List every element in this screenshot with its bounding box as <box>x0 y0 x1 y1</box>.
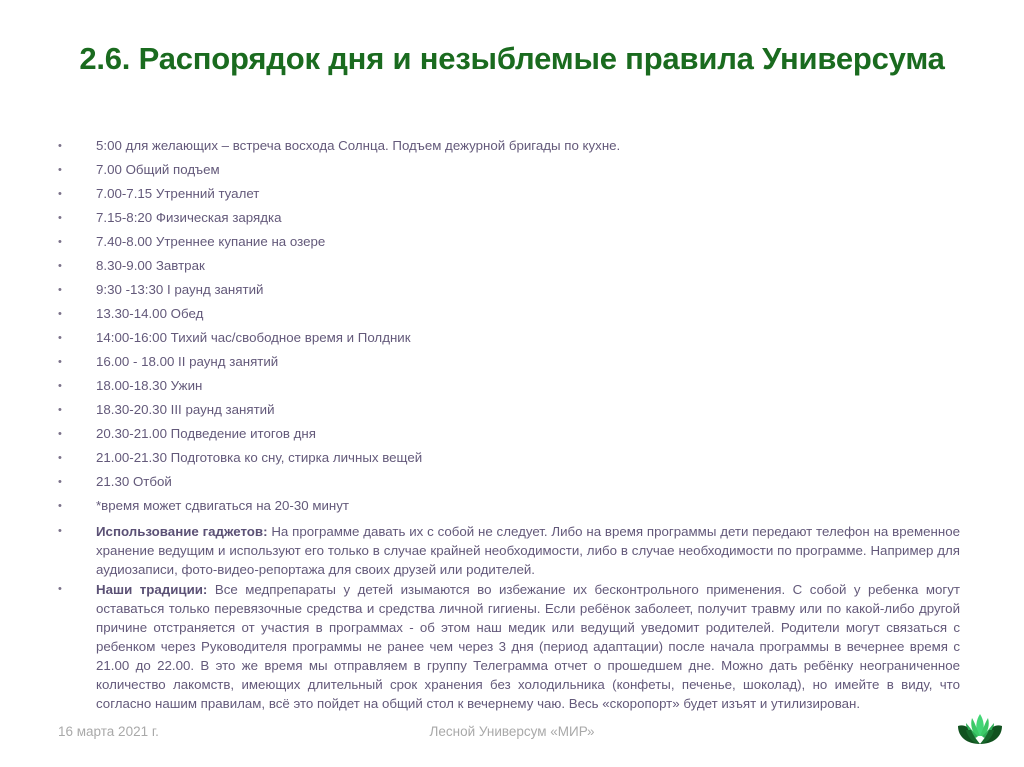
rule-paragraph: Использование гаджетов: На программе дав… <box>96 522 974 579</box>
bullet-icon: • <box>44 158 96 182</box>
list-item: • 7.15-8:20 Физическая зарядка <box>44 206 974 230</box>
bullet-icon: • <box>44 398 96 422</box>
list-item-label: 21.30 Отбой <box>96 470 974 494</box>
list-item-label: 7.00 Общий подъем <box>96 158 974 182</box>
rule-paragraph: Наши традиции: Все медпрепараты у детей … <box>96 580 974 713</box>
list-item-label: 16.00 - 18.00 II раунд занятий <box>96 350 974 374</box>
list-item-label: 8.30-9.00 Завтрак <box>96 254 974 278</box>
list-item: • 18.00-18.30 Ужин <box>44 374 974 398</box>
bullet-icon: • <box>44 350 96 374</box>
bullet-icon: • <box>44 134 96 158</box>
list-item-label: 13.30-14.00 Обед <box>96 302 974 326</box>
list-item: • 5:00 для желающих – встреча восхода Со… <box>44 134 974 158</box>
list-item: • 9:30 -13:30 I раунд занятий <box>44 278 974 302</box>
rule-body-text: Все медпрепараты у детей изымаются во из… <box>96 582 960 711</box>
lotus-leaf-logo <box>952 706 1008 754</box>
bullet-icon: • <box>44 254 96 278</box>
list-item: • 7.40-8.00 Утреннее купание на озере <box>44 230 974 254</box>
list-item: • 20.30-21.00 Подведение итогов дня <box>44 422 974 446</box>
list-item-label: 20.30-21.00 Подведение итогов дня <box>96 422 974 446</box>
bullet-icon: • <box>44 206 96 230</box>
list-item-label: 9:30 -13:30 I раунд занятий <box>96 278 974 302</box>
list-item: • 18.30-20.30 III раунд занятий <box>44 398 974 422</box>
list-spacer <box>44 518 974 521</box>
bullet-icon: • <box>44 522 96 541</box>
list-item: • 7.00-7.15 Утренний туалет <box>44 182 974 206</box>
rule-lead-label: Использование гаджетов: <box>96 524 268 539</box>
bullet-icon: • <box>44 374 96 398</box>
bullet-icon: • <box>44 422 96 446</box>
bullet-icon: • <box>44 470 96 494</box>
bullet-icon: • <box>44 230 96 254</box>
footer-organization: Лесной Универсум «МИР» <box>0 722 1024 742</box>
bullet-icon: • <box>44 278 96 302</box>
list-item: • 14:00-16:00 Тихий час/свободное время … <box>44 326 974 350</box>
list-item: • 16.00 - 18.00 II раунд занятий <box>44 350 974 374</box>
rule-item-traditions: • Наши традиции: Все медпрепараты у дете… <box>44 580 974 713</box>
list-item-label: 7.40-8.00 Утреннее купание на озере <box>96 230 974 254</box>
slide-canvas: 2.6. Распорядок дня и незыблемые правила… <box>0 0 1024 767</box>
bullet-icon: • <box>44 580 96 599</box>
list-item-label: 7.15-8:20 Физическая зарядка <box>96 206 974 230</box>
list-item: • 7.00 Общий подъем <box>44 158 974 182</box>
list-item-label: 18.30-20.30 III раунд занятий <box>96 398 974 422</box>
bullet-icon: • <box>44 302 96 326</box>
list-item: • *время может сдвигаться на 20-30 минут <box>44 494 974 518</box>
list-item-label: 21.00-21.30 Подготовка ко сну, стирка ли… <box>96 446 974 470</box>
list-item: • 21.30 Отбой <box>44 470 974 494</box>
bullet-icon: • <box>44 326 96 350</box>
rule-item-gadgets: • Использование гаджетов: На программе д… <box>44 522 974 579</box>
list-item-label: 14:00-16:00 Тихий час/свободное время и … <box>96 326 974 350</box>
schedule-list: • 5:00 для желающих – встреча восхода Со… <box>44 134 974 518</box>
bullet-icon: • <box>44 182 96 206</box>
list-item-label: 7.00-7.15 Утренний туалет <box>96 182 974 206</box>
list-item: • 21.00-21.30 Подготовка ко сну, стирка … <box>44 446 974 470</box>
bullet-icon: • <box>44 446 96 470</box>
list-item-label: 18.00-18.30 Ужин <box>96 374 974 398</box>
list-item: • 13.30-14.00 Обед <box>44 302 974 326</box>
list-item: • 8.30-9.00 Завтрак <box>44 254 974 278</box>
list-item-label: *время может сдвигаться на 20-30 минут <box>96 494 974 518</box>
rules-list: • Использование гаджетов: На программе д… <box>44 522 974 713</box>
bullet-icon: • <box>44 494 96 518</box>
slide-body: • 5:00 для желающих – встреча восхода Со… <box>44 134 974 713</box>
rule-lead-label: Наши традиции: <box>96 582 207 597</box>
list-item-label: 5:00 для желающих – встреча восхода Солн… <box>96 134 974 158</box>
page-title: 2.6. Распорядок дня и незыблемые правила… <box>60 39 964 80</box>
